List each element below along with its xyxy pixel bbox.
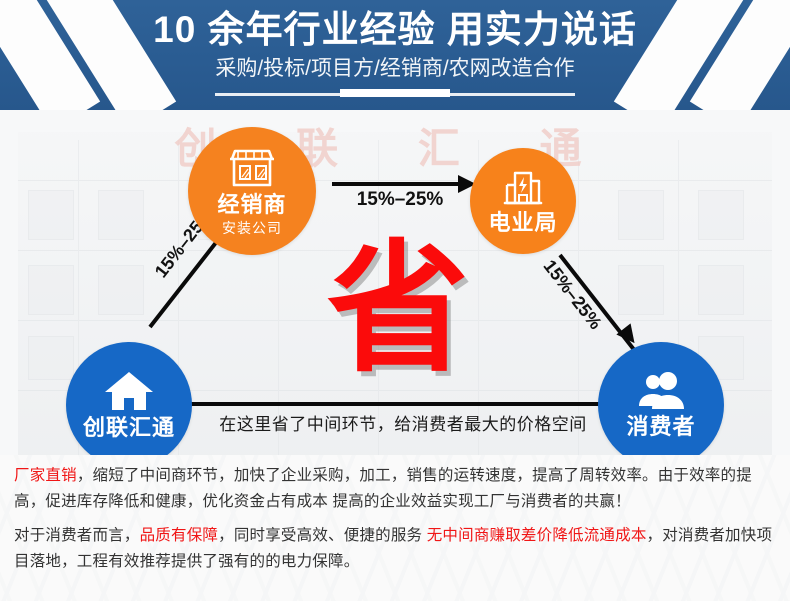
node-brand-label: 创联汇通 bbox=[83, 415, 175, 441]
header-title: 10 余年行业经验 用实力说话 bbox=[0, 8, 790, 52]
header-divider-center bbox=[340, 89, 450, 97]
power-building-icon bbox=[501, 167, 545, 207]
paragraph-two-mid: ，同时享受高效、便捷的服务 bbox=[218, 527, 427, 544]
node-power-bureau-label: 电业局 bbox=[488, 210, 557, 236]
header-subtitle: 采购/投标/项目方/经销商/农网改造合作 bbox=[0, 55, 790, 83]
node-consumer-label: 消费者 bbox=[626, 414, 695, 440]
node-dealer-sublabel: 安装公司 bbox=[222, 219, 282, 237]
promo-banner: 10 余年行业经验 用实力说话 采购/投标/项目方/经销商/农网改造合作 bbox=[0, 0, 790, 601]
footer-description: 厂家直销，缩短了中间商环节，加快了企业采购，加工，销售的运转速度，提高了周转效率… bbox=[0, 455, 790, 601]
paragraph-two-highlight-nomiddleman: 无中间商赚取差价降低流通成本 bbox=[427, 527, 647, 544]
house-icon bbox=[103, 370, 155, 412]
node-dealer-label: 经销商 bbox=[217, 192, 286, 218]
arrow-dealer-to-power bbox=[332, 182, 462, 186]
shop-icon bbox=[225, 145, 279, 189]
paragraph-one-text: ，缩短了中间商环节，加快了企业采购，加工，销售的运转速度，提高了周转效率。由于效… bbox=[14, 467, 752, 510]
arrow-brand-to-consumer bbox=[188, 402, 618, 406]
brand-watermark: 创 联 汇 通 bbox=[0, 115, 790, 176]
paragraph-two-highlight-quality: 品质有保障 bbox=[140, 527, 219, 544]
edge-label-dealer-to-power: 15%–25% bbox=[335, 189, 465, 211]
paragraph-two-lead: 对于消费者而言， bbox=[14, 527, 140, 544]
node-dealer[interactable]: 经销商 安装公司 bbox=[188, 127, 316, 255]
flow-diagram: 创 联 汇 通 省 15%–25% 在这里省了中间环节，给消费者最大的价格空间 … bbox=[0, 110, 790, 455]
people-icon bbox=[635, 371, 687, 411]
node-power-bureau[interactable]: 电业局 bbox=[470, 148, 576, 254]
header-banner: 10 余年行业经验 用实力说话 采购/投标/项目方/经销商/农网改造合作 bbox=[0, 0, 790, 110]
save-character: 省 bbox=[318, 235, 478, 385]
edge-label-brand-to-consumer: 在这里省了中间环节，给消费者最大的价格空间 bbox=[188, 410, 618, 435]
paragraph-two: 对于消费者而言，品质有保障，同时享受高效、便捷的服务 无中间商赚取差价降低流通成… bbox=[14, 523, 778, 575]
paragraph-one-highlight: 厂家直销 bbox=[14, 467, 77, 484]
paragraph-one: 厂家直销，缩短了中间商环节，加快了企业采购，加工，销售的运转速度，提高了周转效率… bbox=[14, 463, 778, 515]
